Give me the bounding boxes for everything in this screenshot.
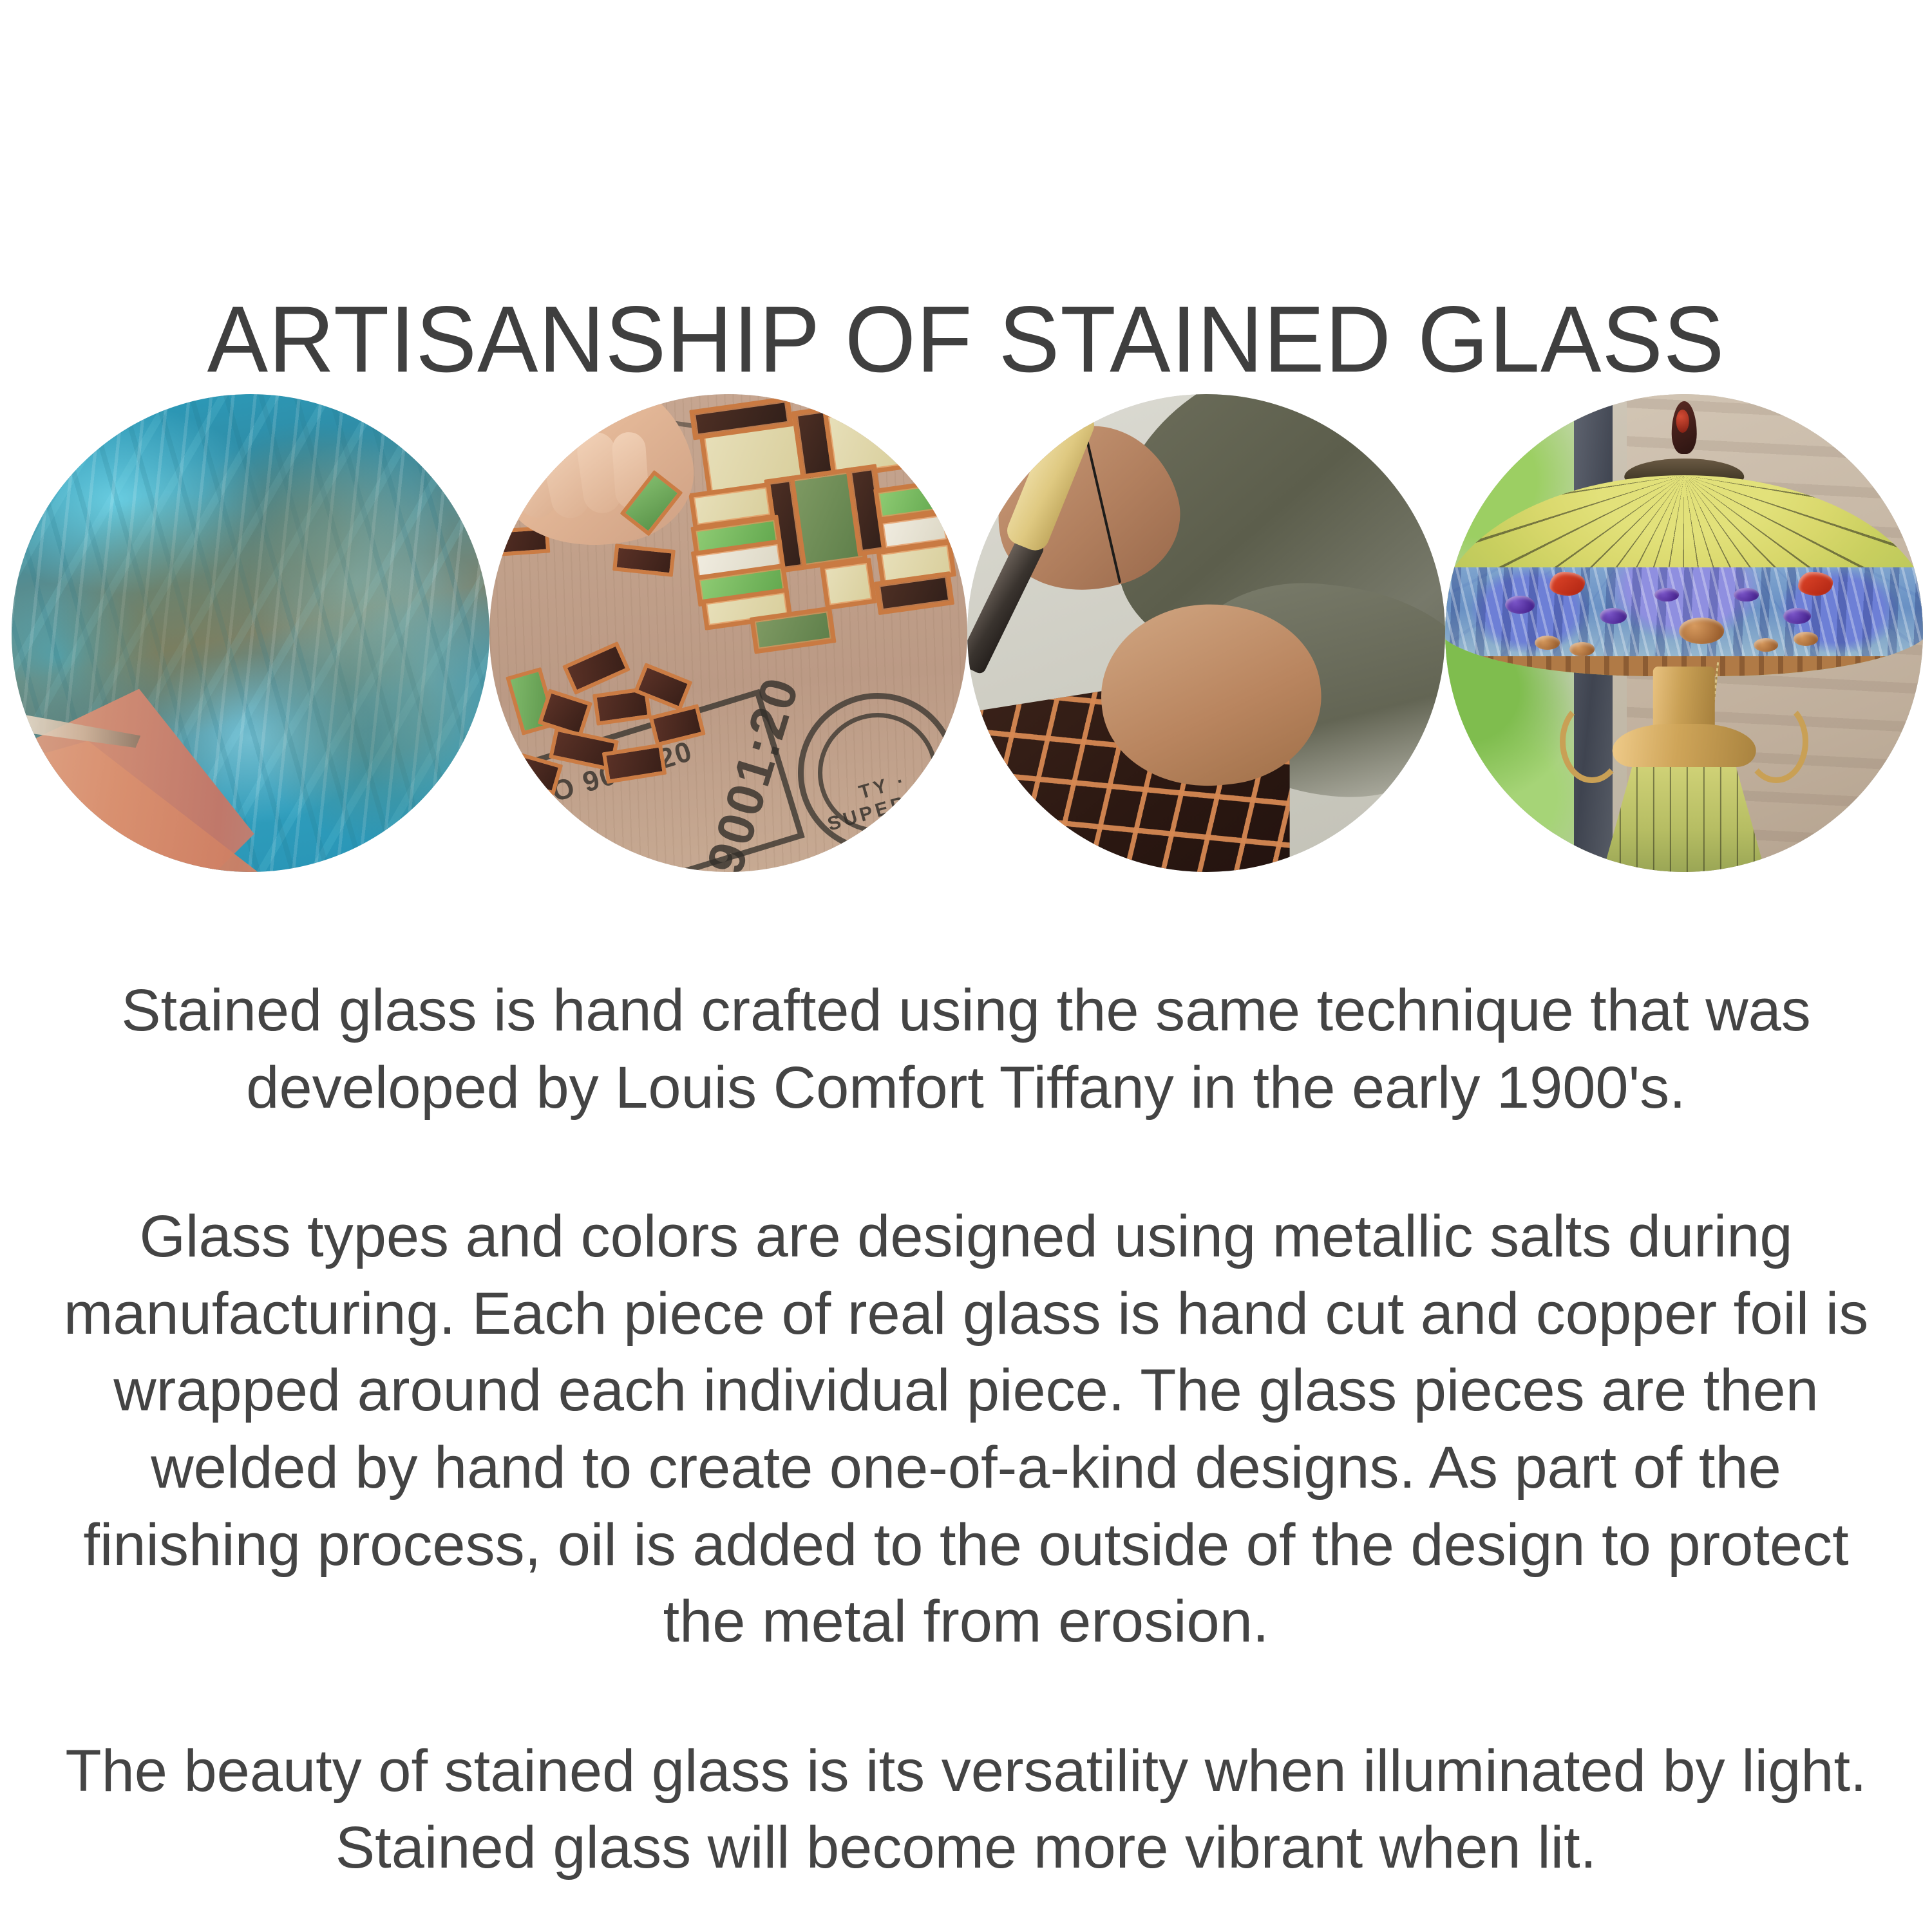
glass-jewel	[1783, 608, 1810, 624]
gallery-image-soldering	[967, 394, 1445, 872]
glass-jewel-red	[1550, 572, 1585, 596]
body-copy: Stained glass is hand crafted using the …	[19, 972, 1913, 1887]
glass-jewel	[1600, 608, 1627, 624]
glass-jewel-center	[1679, 618, 1723, 644]
stained-glass-lamp-shade	[1445, 475, 1923, 676]
paragraph-intro: Stained glass is hand crafted using the …	[64, 972, 1868, 1126]
infographic-page: ARTISANSHIP OF STAINED GLASS ISO 9001:20…	[0, 0, 1932, 1932]
lamp-base-neck	[1653, 667, 1715, 728]
page-title: ARTISANSHIP OF STAINED GLASS	[29, 290, 1903, 388]
paragraph-process: Glass types and colors are designed usin…	[39, 1198, 1893, 1661]
glass-jewel-red	[1798, 572, 1833, 596]
glass-tile	[819, 558, 877, 610]
image-gallery: ISO 9001:20 ISO 9001:20 TY · SUPER QU	[12, 394, 1920, 873]
gallery-image-glass-sheet	[12, 394, 489, 872]
glass-jewel	[1505, 596, 1535, 614]
glass-jewel	[1535, 636, 1560, 650]
glass-jewel	[1794, 632, 1819, 646]
glass-jewel	[1654, 588, 1680, 602]
gallery-image-finished-lamp	[1445, 394, 1923, 872]
lamp-base-bell	[1613, 724, 1756, 767]
lamp-base-handle-left	[1560, 700, 1624, 783]
lamp-base-handle-right	[1744, 700, 1808, 783]
foiled-glass-mosaic	[661, 394, 967, 729]
glass-jewel	[1734, 588, 1759, 602]
paragraph-beauty: The beauty of stained glass is its versa…	[19, 1733, 1913, 1887]
shade-decorative-band	[1445, 567, 1923, 659]
gallery-image-cutting-and-foiling: ISO 9001:20 ISO 9001:20 TY · SUPER QU	[489, 394, 967, 872]
